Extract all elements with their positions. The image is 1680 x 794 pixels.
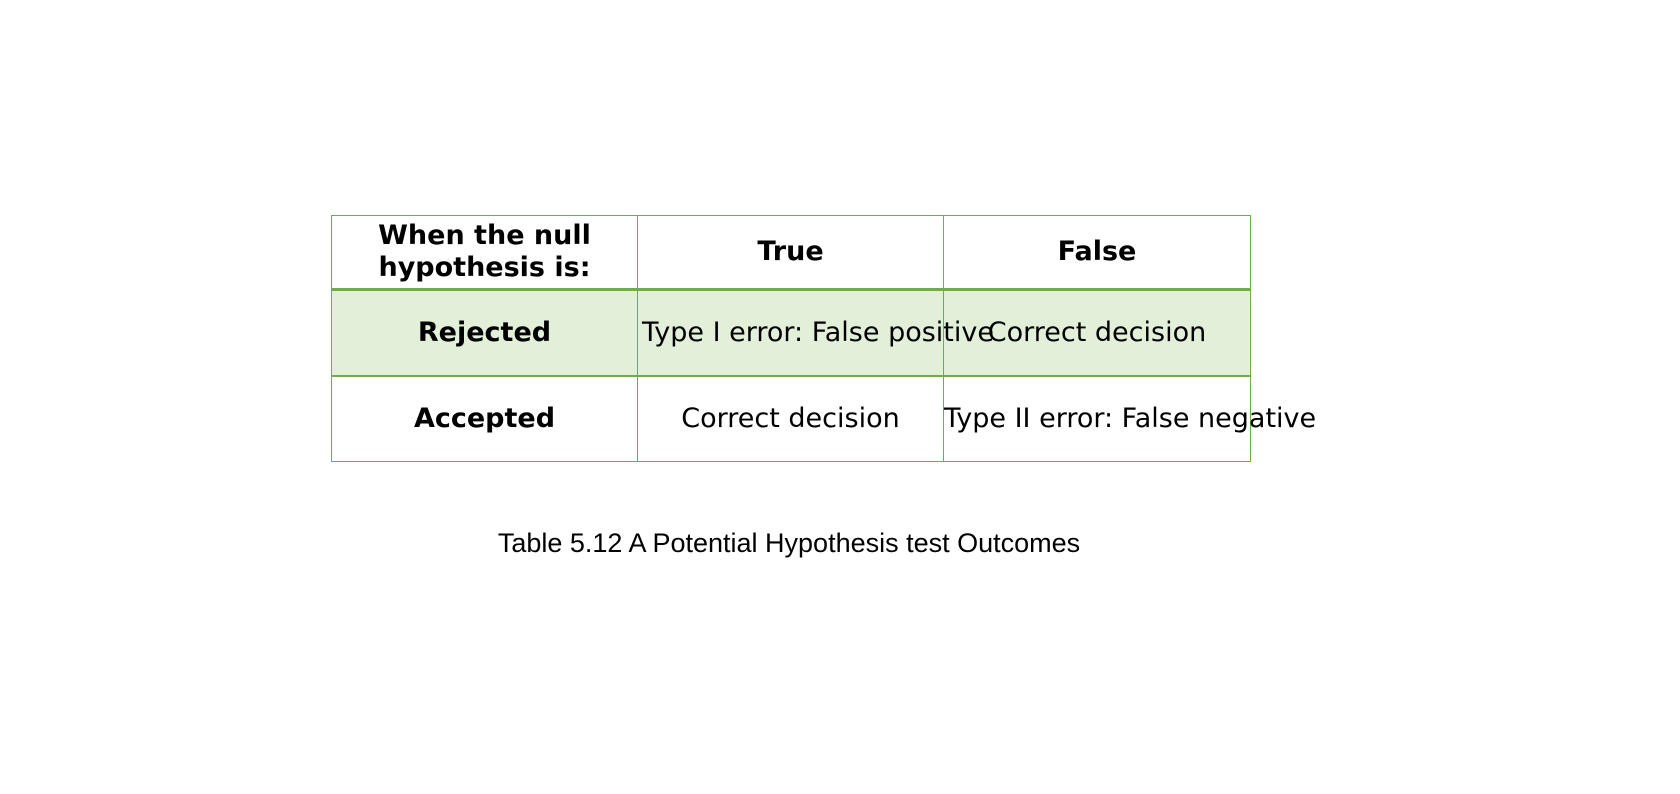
table-row: Accepted Correct decision Type II error:… (332, 376, 1251, 462)
cell-rejected-true: Type I error: False positive (638, 290, 944, 377)
hypothesis-test-outcomes-table: When the null hypothesis is: True False … (331, 215, 1251, 462)
header-cell-false: False (944, 216, 1251, 290)
cell-accepted-true: Correct decision (638, 376, 944, 462)
row-label-rejected: Rejected (332, 290, 638, 377)
cell-accepted-false: Type II error: False negative (944, 376, 1251, 462)
table-caption: Table 5.12 A Potential Hypothesis test O… (0, 528, 1578, 559)
table-row: Rejected Type I error: False positive Co… (332, 290, 1251, 377)
header-cell-row-label: When the null hypothesis is: (332, 216, 638, 290)
table-header-row: When the null hypothesis is: True False (332, 216, 1251, 290)
cell-rejected-false: Correct decision (944, 290, 1251, 377)
header-cell-true: True (638, 216, 944, 290)
row-label-accepted: Accepted (332, 376, 638, 462)
slide-canvas: When the null hypothesis is: True False … (0, 0, 1680, 794)
